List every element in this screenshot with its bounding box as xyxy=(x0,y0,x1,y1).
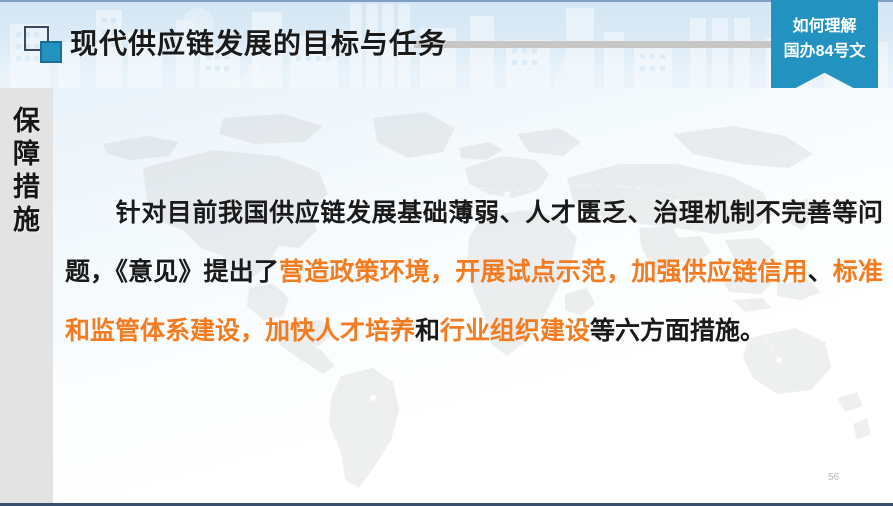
square-filled-icon xyxy=(40,41,62,63)
body-segment-3: 、 xyxy=(808,258,833,286)
sidebar-char-0: 保 xyxy=(0,105,53,138)
sidebar-char-1: 障 xyxy=(0,138,53,171)
body-segment-5: 和 xyxy=(415,317,440,345)
body-segment-2-highlight: 营造政策环境，开展试点示范，加强供应链信用 xyxy=(279,258,808,286)
body-segment-6-highlight: 行业组织建设 xyxy=(440,317,590,345)
page-title: 现代供应链发展的目标与任务 xyxy=(70,22,447,62)
title-underline-rule xyxy=(414,41,772,48)
page-number: 56 xyxy=(828,472,839,483)
sidebar-char-3: 施 xyxy=(0,204,53,237)
body-paragraph: 针对目前我国供应链发展基础薄弱、人才匮乏、治理机制不完善等问题，《意见》提出了营… xyxy=(65,184,883,361)
sidebar-char-2: 措 xyxy=(0,171,53,204)
body-segment-7: 等六方面措施。 xyxy=(590,317,765,345)
sidebar-vertical-label: 保 障 措 施 xyxy=(0,105,53,237)
body-segment-1: 《意见》提出了 xyxy=(115,258,279,286)
slide-canvas: 现代供应链发展的目标与任务 如何理解 国办84号文 保 障 措 施 xyxy=(0,0,893,506)
ribbon-line-1: 如何理解 xyxy=(771,14,878,39)
content-canvas: 针对目前我国供应链发展基础薄弱、人才匮乏、治理机制不完善等问题，《意见》提出了营… xyxy=(53,88,893,503)
ribbon-line-2: 国办84号文 xyxy=(771,39,878,64)
